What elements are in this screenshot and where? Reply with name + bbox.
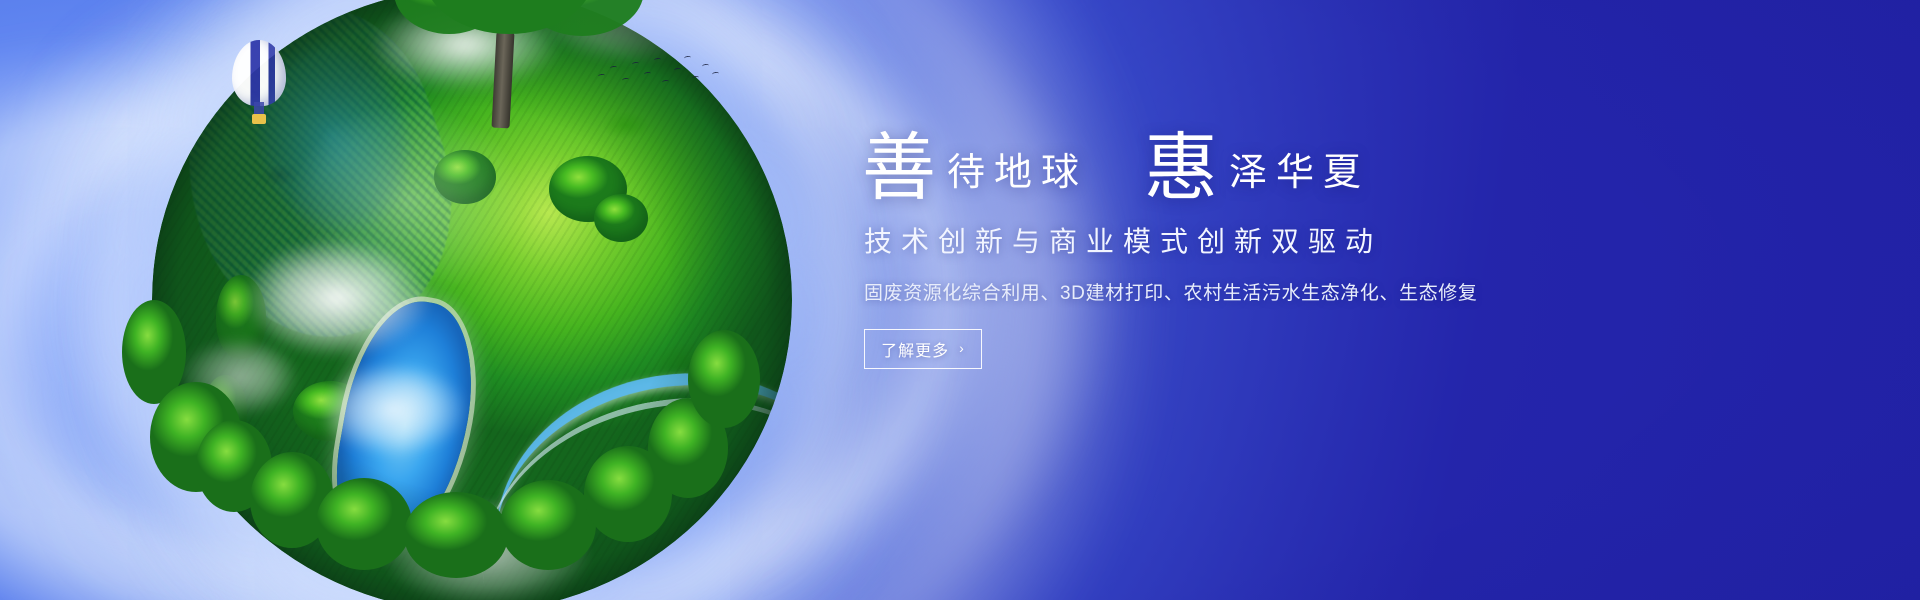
learn-more-label: 了解更多 <box>881 337 949 361</box>
hero-content: 善 待地球 惠 泽华夏 技术创新与商业模式创新双驱动 固废资源化综合利用、3D建… <box>862 128 1562 369</box>
headline-part2-small: 泽华夏 <box>1219 154 1374 202</box>
learn-more-button[interactable]: 了解更多 › <box>864 329 982 369</box>
chevron-right-icon: › <box>959 341 965 355</box>
page-title: 善 待地球 惠 泽华夏 <box>862 128 1562 202</box>
hero-subtitle: 技术创新与商业模式创新双驱动 <box>864 220 1562 260</box>
hero-banner: 善 待地球 惠 泽华夏 技术创新与商业模式创新双驱动 固废资源化综合利用、3D建… <box>0 0 1920 600</box>
hero-description: 固废资源化综合利用、3D建材打印、农村生活污水生态净化、生态修复 <box>864 278 1562 305</box>
headline-part1-small: 待地球 <box>937 154 1092 202</box>
headline-part1-large: 善 <box>862 132 937 206</box>
headline-part2-large: 惠 <box>1144 132 1219 206</box>
